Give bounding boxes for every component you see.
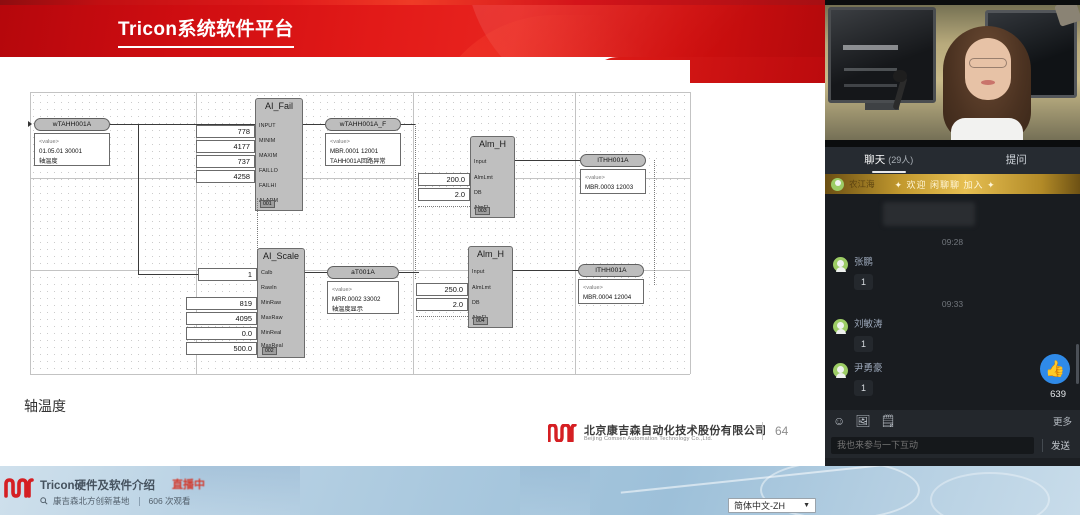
tag-desc: TAHH001A回路异常 xyxy=(330,157,396,167)
block-ai-fail[interactable]: AI_Fail INPUT MINIM MAXIM FAILLO FAILHI … xyxy=(255,98,303,211)
emoji-icon[interactable]: ☺ xyxy=(833,414,845,428)
presenter-figure xyxy=(943,22,1031,147)
search-icon xyxy=(40,497,48,505)
live-side-panel: 聊天 (29人) 提问 农江海 ✦ 欢迎 闲聊聊 加入 ✦ 09:28 张鹏 1 xyxy=(825,0,1080,466)
grid-vline xyxy=(413,92,414,374)
timestamp: 09:28 xyxy=(825,237,1080,247)
port-input: Input xyxy=(472,269,485,275)
input-tag-desc: 轴温度 xyxy=(39,157,105,167)
tag-value-label: <value> xyxy=(585,173,641,183)
tab-qa[interactable]: 提问 xyxy=(953,147,1080,174)
wire xyxy=(303,124,325,125)
avatar xyxy=(833,363,848,378)
tag-lthh001a-1[interactable]: lTHH001A xyxy=(580,154,646,167)
tag-at001a[interactable]: aT001A xyxy=(327,266,399,279)
tag-address: MBR.0001 12001 xyxy=(330,147,396,157)
chat-input-bar: 发送 xyxy=(825,432,1080,458)
page-number: 64 xyxy=(775,424,788,438)
port-maxim: MAXIM xyxy=(259,153,277,159)
timestamp: 09:33 xyxy=(825,299,1080,309)
tag-lthh001a-2[interactable]: lTHH001A xyxy=(578,264,644,277)
input-arrow-icon xyxy=(28,121,32,127)
block-ai-scale[interactable]: AI_Scale Calb RawIn MinRaw MaxRaw MinRea… xyxy=(257,248,305,358)
tab-qa-label: 提问 xyxy=(1006,154,1027,166)
grid-hline xyxy=(30,374,690,375)
header-white-fill xyxy=(0,60,690,88)
send-button[interactable]: 发送 xyxy=(1051,438,1074,452)
app-window: Tricon系统软件平台 wTAHH001A <value> 01.05.01 … xyxy=(0,0,1080,515)
presenter-video[interactable] xyxy=(825,0,1080,147)
dashed-wire xyxy=(416,316,468,317)
input-tag-pill[interactable]: wTAHH001A xyxy=(34,118,110,131)
list-item: 张鹏 1 xyxy=(825,256,1080,292)
function-block-diagram: wTAHH001A <value> 01.05.01 30001 轴温度 AI_… xyxy=(0,88,825,388)
welcome-name: 农江海 xyxy=(849,178,875,190)
input-divider xyxy=(1042,439,1043,452)
block-alm-h-2[interactable]: Alm_H Input AlmLmt DB AlmFl 004 xyxy=(468,246,513,328)
dashed-wire xyxy=(418,206,470,207)
port-db: DB xyxy=(474,190,482,196)
wire xyxy=(515,160,580,161)
tagbox-lthh001a-1: <value> MBR.0003 12003 xyxy=(580,169,646,194)
bg-art xyxy=(520,466,590,515)
wire xyxy=(401,124,415,125)
port-almlmt: AlmLmt xyxy=(474,175,493,181)
like-count: 639 xyxy=(1050,389,1066,400)
port-calb: Calb xyxy=(261,270,273,276)
card-icon[interactable]: 🗒 xyxy=(881,414,896,428)
language-value: 简体中文-ZH xyxy=(734,499,785,512)
video-letterbox-bottom xyxy=(825,140,1080,147)
tagbox-wtahh001a-f: <value> MBR.0001 12001 TAHH001A回路异常 xyxy=(325,133,401,166)
port-minraw: MinRaw xyxy=(261,300,281,306)
stream-channel[interactable]: 康吉森北方创新基地 xyxy=(53,495,130,507)
message-author: 尹勇豪 xyxy=(854,362,883,376)
chat-message-list[interactable]: 09:28 张鹏 1 09:33 刘敏涛 1 尹勇豪 xyxy=(825,194,1080,410)
port-minreal: MinReal xyxy=(261,330,281,336)
tag-value-label: <value> xyxy=(332,285,394,295)
tab-chat-count: (29人) xyxy=(888,155,913,165)
welcome-avatar xyxy=(831,178,844,191)
port-input: Input xyxy=(474,159,487,165)
tag-value-label: <value> xyxy=(330,137,396,147)
slide-title: Tricon系统软件平台 xyxy=(118,14,294,48)
grid-hline xyxy=(30,92,690,93)
welcome-banner: 农江海 ✦ 欢迎 闲聊聊 加入 ✦ xyxy=(825,174,1080,194)
port-minim: MINIM xyxy=(259,138,275,144)
bottom-company-logo-icon xyxy=(4,478,34,498)
const-calb[interactable]: 1 xyxy=(198,268,257,281)
monitor-left xyxy=(828,7,936,103)
image-icon[interactable]: 🖼 xyxy=(855,414,870,428)
more-button[interactable]: 更多 xyxy=(1053,414,1072,428)
video-letterbox-top xyxy=(825,0,1080,5)
redacted-message xyxy=(883,202,975,226)
slide-note: 轴温度 xyxy=(24,396,66,416)
port-almlmt: AlmLmt xyxy=(472,285,491,291)
block-alm-h-1[interactable]: Alm_H Input AlmLmt DB AlmFl 003 xyxy=(470,136,515,218)
grid-vline xyxy=(690,92,691,374)
input-tag-value-label: <value> xyxy=(39,137,105,147)
tab-chat[interactable]: 聊天 (29人) xyxy=(825,147,953,174)
block-title: AI_Fail xyxy=(256,101,302,111)
block-tag: 001 xyxy=(260,200,275,208)
tag-wtahh001a-f[interactable]: wTAHH001A_F xyxy=(325,118,401,131)
port-failhi: FAILHI xyxy=(259,183,276,189)
avatar xyxy=(833,319,848,334)
dashed-wire xyxy=(654,160,655,285)
chevron-down-icon: ▼ xyxy=(803,502,810,509)
tagbox-at001a: <value> MRR.0002 33002 轴温度显示 xyxy=(327,281,399,314)
input-tag-box: <value> 01.05.01 30001 轴温度 xyxy=(34,133,110,166)
message-text: 1 xyxy=(854,274,873,290)
live-badge: 直播中 xyxy=(172,476,205,492)
avatar xyxy=(833,257,848,272)
tag-address: MBR.0004 12004 xyxy=(583,293,639,303)
message-author: 张鹏 xyxy=(854,256,873,270)
tag-desc: 轴温度显示 xyxy=(332,305,394,315)
presentation-stage: Tricon系统软件平台 wTAHH001A <value> 01.05.01 … xyxy=(0,0,825,466)
input-tag-address: 01.05.01 30001 xyxy=(39,147,105,157)
tag-address: MBR.0003 12003 xyxy=(585,183,641,193)
tag-address: MRR.0002 33002 xyxy=(332,295,394,305)
message-text: 1 xyxy=(854,380,873,396)
const-db-2[interactable]: 2.0 xyxy=(416,298,468,311)
const-maxim[interactable]: 4177 xyxy=(196,140,255,153)
const-minreal[interactable]: 0.0 xyxy=(186,327,257,340)
welcome-text: ✦ 欢迎 闲聊聊 加入 ✦ xyxy=(895,178,996,191)
port-db: DB xyxy=(472,300,480,306)
wire xyxy=(138,124,139,274)
stream-title: Tricon硬件及软件介绍 xyxy=(40,477,155,493)
wire xyxy=(513,270,578,271)
const-maxraw[interactable]: 4095 xyxy=(186,312,257,325)
const-failhi[interactable]: 4258 xyxy=(196,170,255,183)
like-button[interactable]: 👍 xyxy=(1040,354,1070,384)
meta-divider xyxy=(139,497,140,506)
block-tag: 002 xyxy=(262,347,277,355)
message-author: 刘敏涛 xyxy=(854,318,883,332)
block-tag: 003 xyxy=(475,207,490,215)
message-text: 1 xyxy=(854,336,873,352)
port-input: INPUT xyxy=(259,123,276,129)
stream-meta: 康吉森北方创新基地 606 次观看 xyxy=(40,495,191,507)
list-item: 刘敏涛 1 xyxy=(825,318,1080,354)
chat-toolbar: ☺ 🖼 🗒 更多 xyxy=(825,410,1080,432)
language-select[interactable]: 简体中文-ZH ▼ xyxy=(728,498,816,513)
const-maxreal[interactable]: 500.0 xyxy=(186,342,257,355)
port-faillo: FAILLO xyxy=(259,168,278,174)
tag-value-label: <value> xyxy=(583,283,639,293)
const-almlmt-1[interactable]: 200.0 xyxy=(418,173,470,186)
presenter-face xyxy=(965,38,1011,100)
footer-company-en: Beijing Comsen Automation Technology Co.… xyxy=(584,436,713,442)
dashed-wire xyxy=(415,124,416,279)
microphone-head-icon xyxy=(893,70,907,82)
presenter-lips xyxy=(981,80,995,85)
const-minraw[interactable]: 819 xyxy=(186,297,257,310)
chat-input[interactable] xyxy=(831,437,1034,454)
wire xyxy=(305,272,327,273)
grid-vline xyxy=(30,92,31,374)
block-title: Alm_H xyxy=(471,139,514,149)
stream-info-bar: Tricon硬件及软件介绍 直播中 康吉森北方创新基地 606 次观看 xyxy=(0,466,1080,515)
grid-vline xyxy=(575,92,576,374)
block-title: Alm_H xyxy=(469,249,512,259)
const-almlmt-2[interactable]: 250.0 xyxy=(416,283,468,296)
const-minim[interactable]: 778 xyxy=(196,125,255,138)
stream-views: 606 次观看 xyxy=(149,495,191,507)
block-title: AI_Scale xyxy=(258,251,304,261)
wire xyxy=(399,272,419,273)
port-rawin: RawIn xyxy=(261,285,277,291)
company-logo-icon xyxy=(548,424,578,442)
tab-chat-label: 聊天 xyxy=(864,154,885,166)
footer-divider xyxy=(762,422,763,440)
presenter-glasses xyxy=(969,58,1007,68)
port-maxraw: MaxRaw xyxy=(261,315,283,321)
const-faillo[interactable]: 737 xyxy=(196,155,255,168)
block-tag: 004 xyxy=(473,317,488,325)
tagbox-lthh001a-2: <value> MBR.0004 12004 xyxy=(578,279,644,304)
chat-scrollbar[interactable] xyxy=(1076,344,1079,384)
bg-art xyxy=(930,472,1050,515)
const-db-1[interactable]: 2.0 xyxy=(418,188,470,201)
chat-tabs: 聊天 (29人) 提问 xyxy=(825,147,1080,174)
